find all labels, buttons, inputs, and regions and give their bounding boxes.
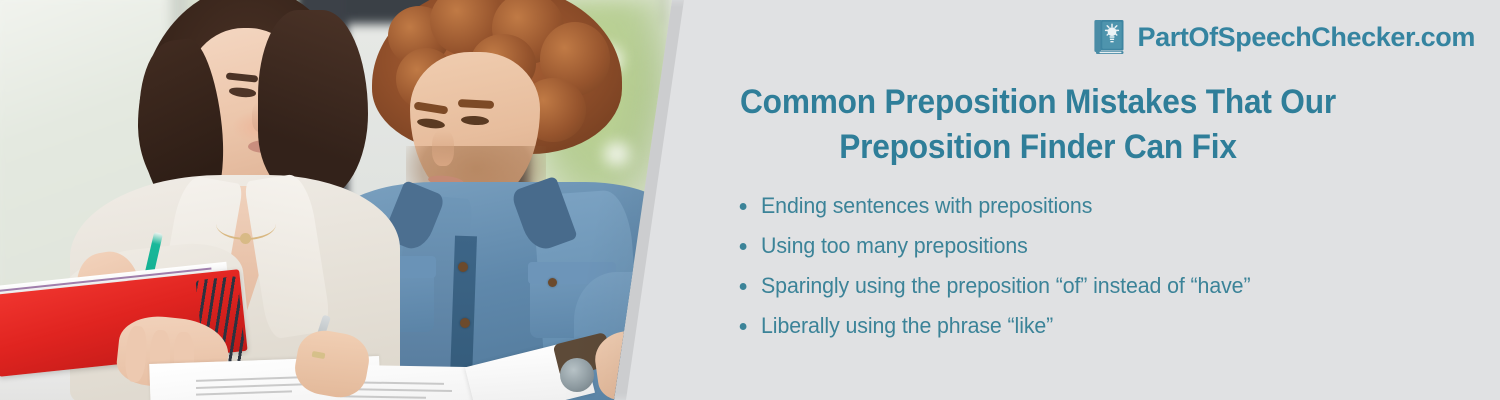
list-item-label: Liberally using the phrase “like” xyxy=(761,313,1053,338)
site-logo[interactable]: PartOfSpeechChecker.com xyxy=(1093,18,1475,56)
bokeh-dot-4 xyxy=(604,142,630,166)
man-watch-face xyxy=(560,358,594,392)
woman-pendant xyxy=(240,233,251,244)
headline-line-1: Common Preposition Mistakes That Our xyxy=(740,83,1336,121)
promo-banner: PartOfSpeechChecker.com Common Prepositi… xyxy=(0,0,1500,400)
man-nose xyxy=(432,130,454,166)
photo-illustration xyxy=(0,0,700,400)
mistakes-list: Ending sentences with prepositions Using… xyxy=(730,190,1330,350)
list-item: Liberally using the phrase “like” xyxy=(730,310,1312,341)
list-item-label: Sparingly using the preposition “of” ins… xyxy=(761,273,1250,298)
man-shirt-button xyxy=(458,262,468,272)
list-item: Using too many prepositions xyxy=(730,230,1312,261)
logo-wordmark: PartOfSpeechChecker.com xyxy=(1138,22,1475,53)
page-title: Common Preposition Mistakes That Our Pre… xyxy=(722,80,1354,170)
hero-photo xyxy=(0,0,700,400)
man-pocket-button xyxy=(548,278,557,287)
book-lightbulb-icon xyxy=(1093,18,1127,56)
headline-line-2: Preposition Finder Can Fix xyxy=(839,128,1236,166)
content-panel: PartOfSpeechChecker.com Common Prepositi… xyxy=(690,0,1500,400)
man-shirt-button xyxy=(460,318,470,328)
list-item-label: Ending sentences with prepositions xyxy=(761,193,1092,218)
list-item: Sparingly using the preposition “of” ins… xyxy=(730,270,1312,301)
woman-hair-right xyxy=(258,10,368,200)
list-item-label: Using too many prepositions xyxy=(761,233,1028,258)
list-item: Ending sentences with prepositions xyxy=(730,190,1312,221)
